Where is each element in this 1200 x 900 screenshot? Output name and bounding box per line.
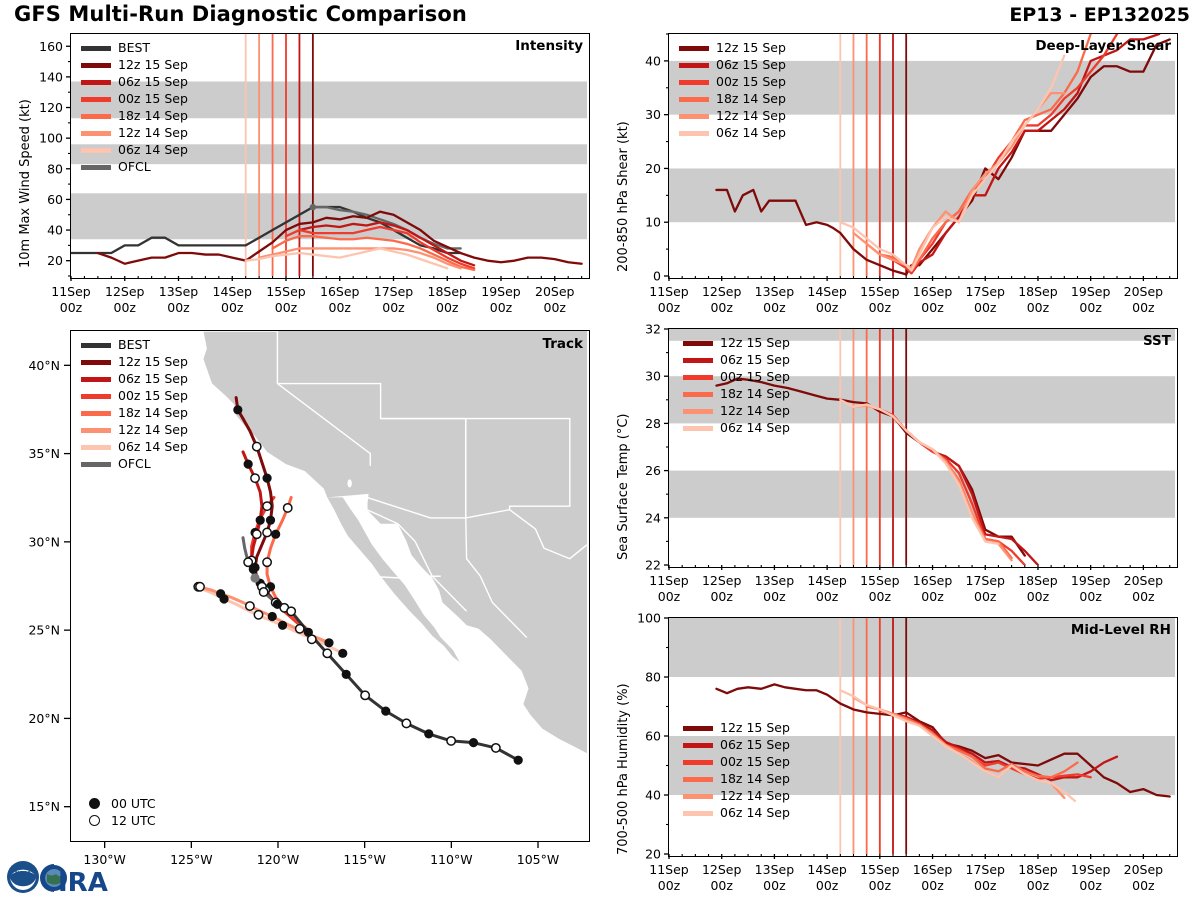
legend-swatch-icon (683, 760, 713, 765)
svg-text:00z: 00z (869, 300, 892, 315)
legend-swatch-icon (81, 377, 111, 382)
svg-text:00z: 00z (1079, 300, 1102, 315)
legend-swatch-icon (683, 811, 713, 816)
svg-text:12Sep: 12Sep (702, 862, 742, 877)
svg-text:00z: 00z (114, 300, 137, 315)
svg-text:NOAA: NOAA (15, 871, 31, 877)
svg-text:18Sep: 18Sep (1018, 573, 1058, 588)
svg-text:40: 40 (47, 223, 63, 238)
legend-label: 12z 15 Sep (118, 356, 188, 369)
svg-text:16Sep: 16Sep (913, 284, 953, 299)
svg-text:40°N: 40°N (28, 358, 60, 373)
track-legend-item: BEST (81, 337, 188, 354)
svg-text:80: 80 (47, 161, 63, 176)
svg-text:00z: 00z (763, 589, 786, 604)
legend-label: 06z 14 Sep (118, 144, 188, 157)
legend-label: 18z 14 Sep (118, 110, 188, 123)
intensity-legend-item: OFCL (81, 159, 188, 176)
svg-text:40: 40 (645, 788, 661, 803)
marker-legend-item: 12 UTC (85, 812, 156, 829)
svg-text:35°N: 35°N (28, 446, 60, 461)
svg-text:100: 100 (39, 131, 63, 146)
intensity-legend-item: 06z 15 Sep (81, 74, 188, 91)
svg-text:13Sep: 13Sep (755, 284, 795, 299)
storm-id-label: EP13 - EP132025 (1009, 4, 1190, 26)
svg-text:28: 28 (645, 416, 661, 431)
shear-legend-item: 12z 15 Sep (679, 40, 786, 57)
legend-label: 12z 14 Sep (720, 790, 790, 803)
legend-swatch-icon (81, 445, 111, 450)
legend-swatch-icon (679, 80, 709, 85)
svg-text:19Sep: 19Sep (1071, 573, 1111, 588)
svg-text:18Sep: 18Sep (1018, 284, 1058, 299)
svg-text:60: 60 (645, 729, 661, 744)
svg-text:00z: 00z (221, 300, 244, 315)
legend-label: OFCL (118, 161, 151, 174)
legend-label: 18z 14 Sep (720, 773, 790, 786)
svg-text:125°W: 125°W (170, 852, 212, 867)
svg-text:00z: 00z (1132, 300, 1155, 315)
legend-label: BEST (118, 339, 150, 352)
intensity-legend-item: 06z 14 Sep (81, 142, 188, 159)
svg-text:00z: 00z (544, 300, 567, 315)
svg-text:18Sep: 18Sep (428, 284, 468, 299)
svg-text:20Sep: 20Sep (1124, 573, 1164, 588)
svg-text:20Sep: 20Sep (535, 284, 575, 299)
svg-text:00z: 00z (490, 300, 513, 315)
svg-text:60: 60 (47, 192, 63, 207)
svg-text:30°N: 30°N (28, 534, 60, 549)
legend-label: 00z 15 Sep (716, 76, 786, 89)
legend-swatch-icon (683, 794, 713, 799)
legend-swatch-icon (683, 726, 713, 731)
svg-text:13Sep: 13Sep (159, 284, 199, 299)
rh-legend: 12z 15 Sep06z 15 Sep00z 15 Sep18z 14 Sep… (683, 720, 790, 822)
legend-swatch-icon (81, 131, 111, 136)
svg-text:00z: 00z (816, 300, 839, 315)
track-legend-item: 12z 14 Sep (81, 422, 188, 439)
shear-legend-item: 06z 15 Sep (679, 57, 786, 74)
svg-text:00z: 00z (658, 300, 681, 315)
shear-legend-item: 18z 14 Sep (679, 91, 786, 108)
cira-wordmark: IRA (40, 864, 108, 898)
sst-legend-item: 06z 15 Sep (683, 352, 790, 369)
track-legend: BEST12z 15 Sep06z 15 Sep00z 15 Sep18z 14… (81, 337, 188, 473)
intensity-legend-item: BEST (81, 40, 188, 57)
sst-legend-item: 00z 15 Sep (683, 369, 790, 386)
svg-text:00z: 00z (974, 878, 997, 893)
legend-label: 12z 15 Sep (720, 337, 790, 350)
svg-text:00z: 00z (1027, 878, 1050, 893)
svg-text:20: 20 (645, 847, 661, 862)
svg-text:160: 160 (39, 39, 63, 54)
svg-text:14Sep: 14Sep (807, 284, 847, 299)
svg-text:00z: 00z (1027, 589, 1050, 604)
svg-text:16Sep: 16Sep (913, 862, 953, 877)
svg-text:00z: 00z (710, 589, 733, 604)
svg-text:15Sep: 15Sep (860, 284, 900, 299)
svg-text:14Sep: 14Sep (807, 573, 847, 588)
legend-swatch-icon (683, 743, 713, 748)
rh-legend-item: 06z 14 Sep (683, 805, 790, 822)
svg-text:00z: 00z (921, 300, 944, 315)
svg-text:00z: 00z (974, 589, 997, 604)
svg-text:00z: 00z (816, 589, 839, 604)
track-legend-item: 06z 14 Sep (81, 439, 188, 456)
legend-label: 06z 15 Sep (720, 739, 790, 752)
rh-legend-item: 12z 14 Sep (683, 788, 790, 805)
svg-text:00z: 00z (382, 300, 405, 315)
legend-swatch-icon (683, 409, 713, 414)
svg-text:32: 32 (645, 323, 661, 337)
legend-swatch-icon (81, 394, 111, 399)
marker-legend-label: 00 UTC (111, 796, 156, 811)
legend-swatch-icon (679, 131, 709, 136)
track-legend-item: 12z 15 Sep (81, 354, 188, 371)
track-panel-title: Track (543, 336, 583, 352)
svg-text:16Sep: 16Sep (913, 573, 953, 588)
svg-text:19Sep: 19Sep (481, 284, 521, 299)
svg-text:80: 80 (645, 670, 661, 685)
svg-text:12Sep: 12Sep (702, 573, 742, 588)
svg-text:00z: 00z (1027, 300, 1050, 315)
legend-label: 12z 14 Sep (118, 127, 188, 140)
legend-label: 12z 15 Sep (118, 59, 188, 72)
svg-text:11Sep: 11Sep (649, 862, 689, 877)
legend-label: 12z 14 Sep (118, 424, 188, 437)
intensity-panel-title: Intensity (515, 38, 583, 54)
legend-label: 12z 15 Sep (716, 42, 786, 55)
svg-text:26: 26 (645, 463, 661, 478)
legend-swatch-icon (683, 777, 713, 782)
svg-text:00z: 00z (1079, 878, 1102, 893)
shear-panel-title: Deep-Layer Shear (1035, 38, 1171, 54)
legend-swatch-icon (683, 375, 713, 380)
intensity-legend-item: 18z 14 Sep (81, 108, 188, 125)
svg-text:110°W: 110°W (430, 852, 472, 867)
svg-text:00z: 00z (816, 878, 839, 893)
legend-label: 06z 14 Sep (716, 127, 786, 140)
sst-panel-title: SST (1143, 333, 1171, 349)
legend-label: 00z 15 Sep (118, 93, 188, 106)
legend-label: 06z 15 Sep (720, 354, 790, 367)
svg-text:11Sep: 11Sep (649, 284, 689, 299)
svg-text:IRA: IRA (58, 868, 108, 898)
legend-swatch-icon (81, 343, 111, 348)
svg-text:15Sep: 15Sep (860, 573, 900, 588)
svg-text:10: 10 (645, 215, 661, 230)
svg-text:11Sep: 11Sep (649, 573, 689, 588)
svg-text:105°W: 105°W (517, 852, 559, 867)
legend-label: 06z 14 Sep (118, 441, 188, 454)
legend-label: 18z 14 Sep (118, 407, 188, 420)
shear-legend-item: 12z 14 Sep (679, 108, 786, 125)
track-marker-legend: 00 UTC12 UTC (85, 795, 156, 829)
svg-text:14Sep: 14Sep (213, 284, 253, 299)
sst-legend-item: 18z 14 Sep (683, 386, 790, 403)
svg-text:120: 120 (39, 100, 63, 115)
svg-text:16Sep: 16Sep (320, 284, 360, 299)
svg-text:19Sep: 19Sep (1071, 284, 1111, 299)
svg-text:20°N: 20°N (28, 711, 60, 726)
legend-swatch-icon (683, 341, 713, 346)
svg-text:140: 140 (39, 69, 63, 84)
svg-text:13Sep: 13Sep (755, 573, 795, 588)
svg-text:00z: 00z (869, 878, 892, 893)
svg-text:17Sep: 17Sep (966, 573, 1006, 588)
svg-text:120°W: 120°W (257, 852, 299, 867)
legend-swatch-icon (683, 426, 713, 431)
noaa-seal-icon: NOAA (7, 861, 39, 893)
svg-text:115°W: 115°W (343, 852, 385, 867)
rh-legend-item: 12z 15 Sep (683, 720, 790, 737)
sst-legend-item: 12z 14 Sep (683, 403, 790, 420)
legend-swatch-icon (81, 165, 111, 170)
svg-text:00z: 00z (275, 300, 298, 315)
svg-text:00z: 00z (763, 300, 786, 315)
svg-text:18Sep: 18Sep (1018, 862, 1058, 877)
svg-text:17Sep: 17Sep (966, 862, 1006, 877)
legend-label: 00z 15 Sep (720, 756, 790, 769)
legend-swatch-icon (81, 462, 111, 467)
svg-text:00z: 00z (1132, 589, 1155, 604)
svg-text:00z: 00z (921, 589, 944, 604)
svg-text:11Sep: 11Sep (51, 284, 91, 299)
marker-legend-label: 12 UTC (111, 813, 156, 828)
legend-label: 12z 14 Sep (720, 405, 790, 418)
rh-legend-item: 18z 14 Sep (683, 771, 790, 788)
legend-swatch-icon (81, 428, 111, 433)
sst-legend-item: 06z 14 Sep (683, 420, 790, 437)
intensity-legend-item: 12z 14 Sep (81, 125, 188, 142)
svg-text:13Sep: 13Sep (755, 862, 795, 877)
legend-swatch-icon (679, 46, 709, 51)
filled-dot-icon (89, 798, 100, 809)
legend-label: 00z 15 Sep (720, 371, 790, 384)
legend-swatch-icon (81, 46, 111, 51)
legend-swatch-icon (679, 97, 709, 102)
legend-label: 06z 15 Sep (118, 76, 188, 89)
legend-label: 18z 14 Sep (716, 93, 786, 106)
legend-label: 06z 15 Sep (118, 373, 188, 386)
svg-text:00z: 00z (710, 878, 733, 893)
legend-swatch-icon (81, 63, 111, 68)
svg-text:25°N: 25°N (28, 623, 60, 638)
page-title: GFS Multi-Run Diagnostic Comparison (14, 2, 467, 26)
svg-text:30: 30 (645, 107, 661, 122)
legend-swatch-icon (81, 97, 111, 102)
legend-label: 06z 14 Sep (720, 422, 790, 435)
legend-label: 18z 14 Sep (720, 388, 790, 401)
svg-text:30: 30 (645, 369, 661, 384)
intensity-legend: BEST12z 15 Sep06z 15 Sep00z 15 Sep18z 14… (81, 40, 188, 176)
legend-label: 06z 15 Sep (716, 59, 786, 72)
svg-text:12Sep: 12Sep (105, 284, 145, 299)
intensity-legend-item: 12z 15 Sep (81, 57, 188, 74)
svg-text:19Sep: 19Sep (1071, 862, 1111, 877)
svg-text:100: 100 (637, 612, 661, 626)
legend-label: 00z 15 Sep (118, 390, 188, 403)
svg-text:00z: 00z (658, 589, 681, 604)
legend-swatch-icon (679, 63, 709, 68)
legend-swatch-icon (683, 358, 713, 363)
legend-label: BEST (118, 42, 150, 55)
svg-text:00z: 00z (921, 878, 944, 893)
svg-text:15Sep: 15Sep (266, 284, 306, 299)
svg-text:24: 24 (645, 510, 661, 525)
svg-text:00z: 00z (436, 300, 459, 315)
svg-text:00z: 00z (60, 300, 83, 315)
svg-text:14Sep: 14Sep (807, 862, 847, 877)
svg-text:00z: 00z (763, 878, 786, 893)
sst-legend: 12z 15 Sep06z 15 Sep00z 15 Sep18z 14 Sep… (683, 335, 790, 437)
shear-legend-item: 06z 14 Sep (679, 125, 786, 142)
legend-label: OFCL (118, 458, 151, 471)
svg-text:00z: 00z (869, 589, 892, 604)
svg-text:00z: 00z (710, 300, 733, 315)
svg-text:20: 20 (47, 253, 63, 268)
svg-text:20Sep: 20Sep (1124, 862, 1164, 877)
rh-legend-item: 06z 15 Sep (683, 737, 790, 754)
svg-text:17Sep: 17Sep (374, 284, 414, 299)
svg-text:00z: 00z (167, 300, 190, 315)
track-legend-item: 00z 15 Sep (81, 388, 188, 405)
legend-label: 06z 14 Sep (720, 807, 790, 820)
legend-swatch-icon (679, 114, 709, 119)
track-legend-item: 18z 14 Sep (81, 405, 188, 422)
shear-legend-item: 00z 15 Sep (679, 74, 786, 91)
legend-swatch-icon (81, 148, 111, 153)
marker-legend-item: 00 UTC (85, 795, 156, 812)
svg-text:12Sep: 12Sep (702, 284, 742, 299)
intensity-legend-item: 00z 15 Sep (81, 91, 188, 108)
svg-text:15°N: 15°N (28, 799, 60, 814)
legend-swatch-icon (81, 114, 111, 119)
svg-text:20Sep: 20Sep (1124, 284, 1164, 299)
track-legend-item: 06z 15 Sep (81, 371, 188, 388)
cira-logo: NOAA IRA (6, 858, 126, 898)
svg-text:00z: 00z (329, 300, 352, 315)
svg-text:17Sep: 17Sep (966, 284, 1006, 299)
svg-text:15Sep: 15Sep (860, 862, 900, 877)
svg-text:00z: 00z (1132, 878, 1155, 893)
rh-legend-item: 00z 15 Sep (683, 754, 790, 771)
rh-panel-title: Mid-Level RH (1071, 622, 1171, 638)
svg-text:20: 20 (645, 161, 661, 176)
legend-swatch-icon (81, 360, 111, 365)
legend-swatch-icon (81, 411, 111, 416)
svg-text:00z: 00z (1079, 589, 1102, 604)
track-legend-item: OFCL (81, 456, 188, 473)
svg-text:00z: 00z (974, 300, 997, 315)
svg-text:22: 22 (645, 558, 661, 573)
legend-label: 12z 15 Sep (720, 722, 790, 735)
open-dot-icon (89, 815, 100, 826)
legend-swatch-icon (81, 80, 111, 85)
svg-text:0: 0 (653, 269, 661, 284)
sst-legend-item: 12z 15 Sep (683, 335, 790, 352)
svg-text:00z: 00z (658, 878, 681, 893)
svg-text:40: 40 (645, 53, 661, 68)
legend-label: 12z 14 Sep (716, 110, 786, 123)
shear-legend: 12z 15 Sep06z 15 Sep00z 15 Sep18z 14 Sep… (679, 40, 786, 142)
legend-swatch-icon (683, 392, 713, 397)
